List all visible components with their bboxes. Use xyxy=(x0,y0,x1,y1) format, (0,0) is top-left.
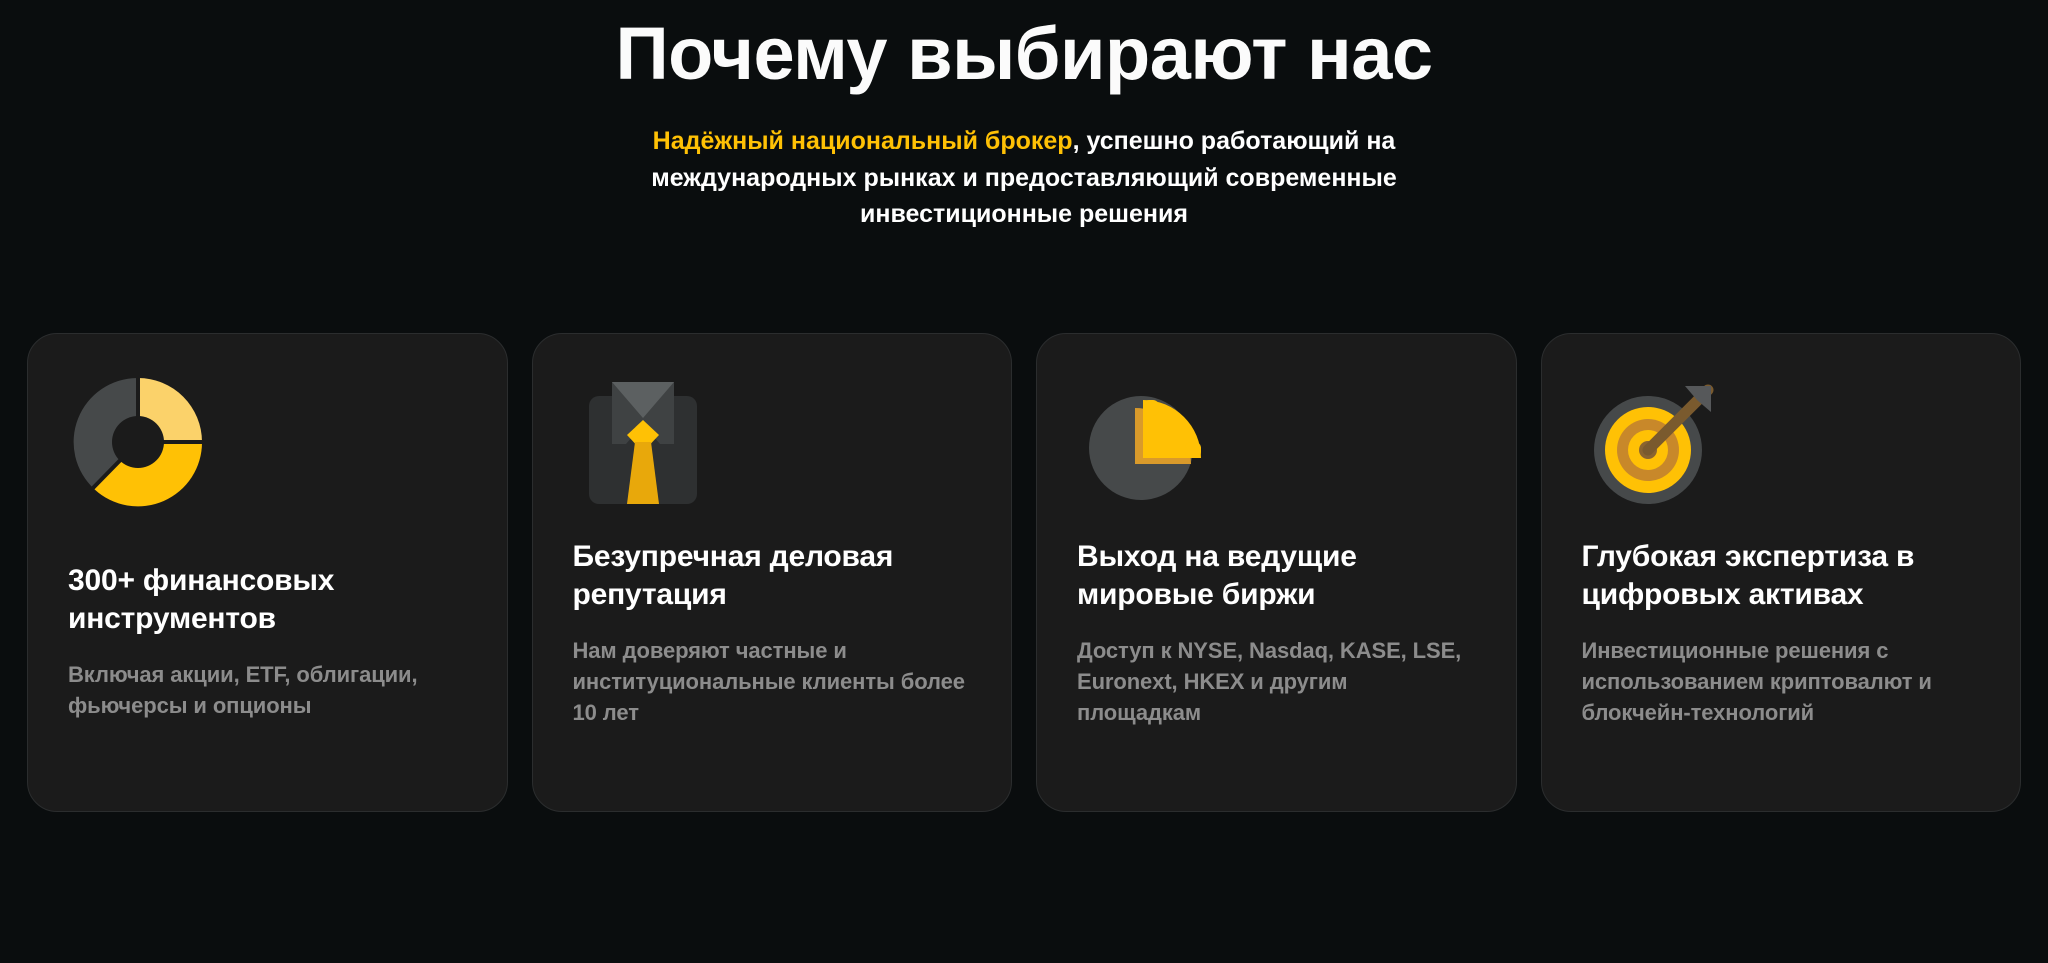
card-title: Выход на ведущие мировые биржи xyxy=(1077,538,1476,613)
card-title: Глубокая экспертиза в цифровых активах xyxy=(1582,538,1981,613)
feature-card-exchanges[interactable]: Выход на ведущие мировые биржи Доступ к … xyxy=(1036,333,1517,812)
card-body: Инвестиционные решения с использованием … xyxy=(1582,635,1981,729)
section-header: Почему выбирают нас Надёжный национальны… xyxy=(0,0,2048,232)
card-body: Включая акции, ETF, облигации, фьючерсы … xyxy=(68,659,467,721)
feature-card-reputation[interactable]: Безупречная деловая репутация Нам доверя… xyxy=(532,333,1013,812)
donut-chart-icon xyxy=(68,372,208,512)
card-title: 300+ финансовых инструментов xyxy=(68,562,467,637)
feature-cards-row: 300+ финансовых инструментов Включая акц… xyxy=(27,333,2021,812)
card-body: Нам доверяют частные и институциональные… xyxy=(573,635,972,729)
why-choose-us-section: Почему выбирают нас Надёжный национальны… xyxy=(0,0,2048,963)
card-body: Доступ к NYSE, Nasdaq, KASE, LSE, Eurone… xyxy=(1077,635,1476,729)
feature-card-digital-assets[interactable]: Глубокая экспертиза в цифровых активах И… xyxy=(1541,333,2022,812)
card-title: Безупречная деловая репутация xyxy=(573,538,972,613)
feature-card-instruments[interactable]: 300+ финансовых инструментов Включая акц… xyxy=(27,333,508,812)
section-subtitle: Надёжный национальный брокер, успешно ра… xyxy=(574,123,1474,232)
pie-chart-icon xyxy=(1077,372,1217,512)
target-arrow-icon xyxy=(1582,372,1722,512)
subtitle-accent-text: Надёжный национальный брокер xyxy=(653,127,1073,155)
page-title: Почему выбирают нас xyxy=(0,10,2048,97)
business-suit-tie-icon xyxy=(573,372,713,512)
